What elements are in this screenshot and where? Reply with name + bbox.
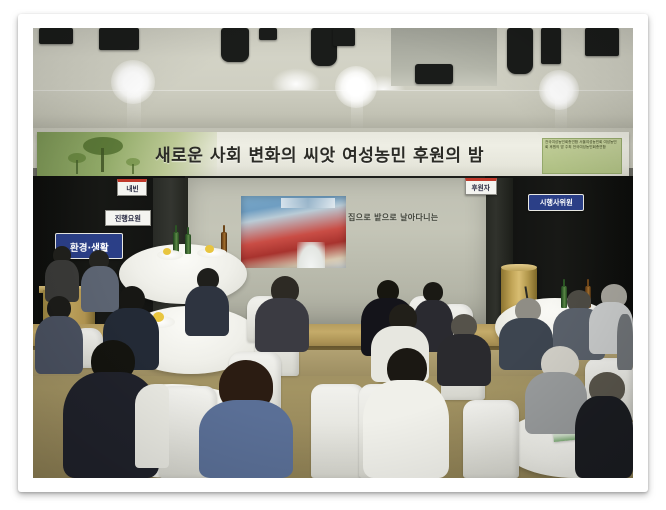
banner-tree-icon [51,132,171,178]
projected-video-thumbnail [241,196,346,268]
stage-light-fixture-icon [333,28,355,46]
banner-credit-text: 전국여성농민회총연합 서울여성농민회 여성농민회 후원의 밤 주최 전국여성농민… [545,140,619,149]
spotlight-beam [127,86,141,132]
bottle-neck-icon [587,279,589,287]
audience-shirt [135,384,169,468]
placard-label: 내빈 [126,184,138,194]
placard-label: 시행사위원 [540,197,573,207]
fruit-icon [205,245,214,253]
audience-body [185,286,229,336]
banner-credit-block: 전국여성농민회총연합 서울여성농민회 여성농민회 후원의 밤 주최 전국여성농민… [542,138,622,174]
audience-body [363,380,449,478]
banner-headline: 새로운 사회 변화의 씨앗 여성농민 후원의 밤 [155,141,545,166]
photograph: 새로운 사회 변화의 씨앗 여성농민 후원의 밤 전국여성농민회총연합 서울여성… [33,28,633,478]
fruit-icon [163,248,171,255]
chair-cover [311,384,365,478]
projector-icon [415,64,453,84]
audience-body [199,400,293,478]
stage-light-fixture-icon [507,28,533,74]
bottle-neck-icon [175,225,177,233]
video-white-shape [297,242,325,268]
stage-light-fixture-icon [221,28,249,62]
audience-body [617,314,633,370]
audience-body [575,396,633,478]
audience-body [437,334,491,386]
bottle-neck-icon [563,279,565,287]
bottle-icon [561,286,567,308]
placard-label: 진행요원 [115,213,141,223]
photo-frame-root: 새로운 사회 변화의 씨앗 여성농민 후원의 밤 전국여성농민회총연합 서울여성… [0,0,666,510]
stage-light-fixture-icon [259,28,277,40]
white-photo-frame: 새로운 사회 변화의 씨앗 여성농민 후원의 밤 전국여성농민회총연합 서울여성… [18,14,648,492]
audience-body [255,298,309,352]
bottle-icon [185,234,191,254]
placard-naebin: 내빈 [117,179,147,196]
placard-hubuin: 후원자 [465,178,497,195]
event-banner: 새로운 사회 변화의 씨앗 여성농민 후원의 밤 전국여성농민회총연합 서울여성… [37,132,629,178]
chair-cover [463,400,519,478]
stage-light-fixture-icon [39,28,73,44]
video-highlight-band [281,198,335,208]
bottle-neck-icon [187,227,189,235]
stage-light-fixture-icon [585,28,619,56]
spotlight-beam [555,94,567,132]
audience-body [35,316,83,374]
stage-light-fixture-icon [99,28,139,50]
stage-light-fixture-icon [541,28,561,64]
spotlight-beam [351,90,363,132]
bottle-neck-icon [223,225,225,233]
placard-jinhaeng: 진행요원 [105,210,151,226]
audience-body [81,266,119,312]
speaker-head [423,282,443,302]
traditional-drum-top [501,264,537,271]
placard-sihaengsa: 시행사위원 [528,194,584,211]
placard-label: 후원자 [472,183,490,193]
projection-caption: 집으로 밭으로 날아다니는 [348,212,478,223]
